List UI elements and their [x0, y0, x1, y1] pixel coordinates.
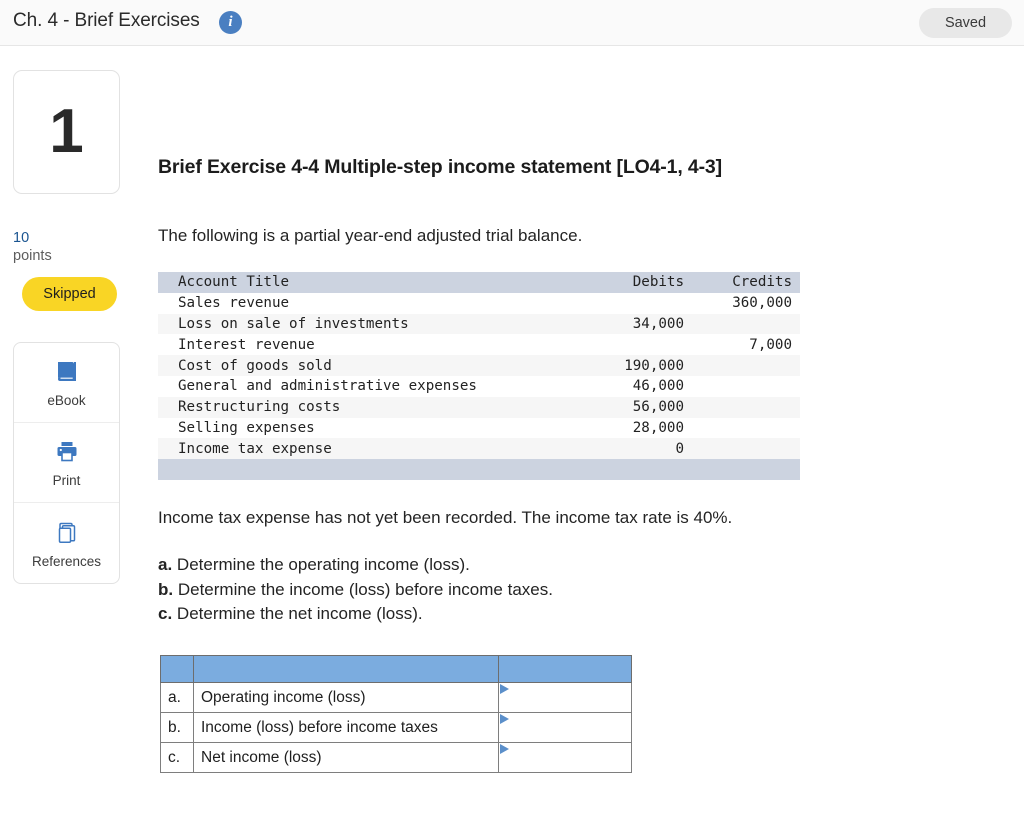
answer-row-label: Operating income (loss)	[194, 683, 499, 713]
account-debit: 28,000	[574, 418, 692, 439]
table-row: Restructuring costs 56,000	[158, 397, 800, 418]
account-debit: 46,000	[574, 376, 692, 397]
account-debit: 56,000	[574, 397, 692, 418]
points-value: 10	[13, 230, 120, 247]
account-debit: 190,000	[574, 355, 692, 376]
account-credit	[692, 355, 800, 376]
answer-row-label: Net income (loss)	[194, 743, 499, 773]
table-row: Loss on sale of investments 34,000	[158, 314, 800, 335]
requirement-text: Determine the operating income (loss).	[177, 555, 470, 574]
requirement-letter: c.	[158, 604, 172, 623]
answer-row-letter: a.	[161, 683, 194, 713]
exercise-intro: The following is a partial year-end adju…	[158, 226, 582, 246]
table-row: a. Operating income (loss)	[161, 683, 632, 713]
exercise-title: Brief Exercise 4-4 Multiple-step income …	[158, 156, 722, 179]
trial-balance-col-credits: Credits	[692, 272, 800, 293]
tool-ebook-label: eBook	[47, 393, 85, 408]
requirement-item: a. Determine the operating income (loss)…	[158, 553, 553, 578]
answer-table: a. Operating income (loss) b. Income (lo…	[160, 655, 632, 773]
answer-row-value-cell[interactable]	[499, 713, 632, 743]
account-debit: 0	[574, 438, 692, 459]
answer-input-c[interactable]	[499, 744, 631, 772]
account-title: Sales revenue	[158, 293, 574, 314]
answer-input-a[interactable]	[499, 684, 631, 712]
requirement-letter: a.	[158, 555, 172, 574]
account-title: General and administrative expenses	[158, 376, 574, 397]
tool-print-label: Print	[53, 473, 81, 488]
table-row: c. Net income (loss)	[161, 743, 632, 773]
tax-note: Income tax expense has not yet been reco…	[158, 508, 732, 528]
trial-balance-col-debits: Debits	[574, 272, 692, 293]
requirements-list: a. Determine the operating income (loss)…	[158, 553, 553, 627]
comment-marker-icon	[500, 684, 509, 694]
account-credit	[692, 314, 800, 335]
table-row: Sales revenue 360,000	[158, 293, 800, 314]
answer-input-b[interactable]	[499, 714, 631, 742]
requirement-item: b. Determine the income (loss) before in…	[158, 578, 553, 603]
page-title: Ch. 4 - Brief Exercises	[13, 10, 200, 32]
status-badge-saved: Saved	[919, 8, 1012, 38]
info-icon[interactable]: i	[219, 11, 242, 34]
answer-row-label: Income (loss) before income taxes	[194, 713, 499, 743]
tool-print[interactable]: Print	[14, 423, 119, 503]
account-credit: 360,000	[692, 293, 800, 314]
answer-row-value-cell[interactable]	[499, 683, 632, 713]
account-title: Cost of goods sold	[158, 355, 574, 376]
account-title: Selling expenses	[158, 418, 574, 439]
account-title: Income tax expense	[158, 438, 574, 459]
ebook-icon	[54, 357, 80, 387]
account-title: Loss on sale of investments	[158, 314, 574, 335]
account-credit	[692, 438, 800, 459]
table-row: Cost of goods sold 190,000	[158, 355, 800, 376]
question-number-card: 1	[13, 70, 120, 194]
tool-references-label: References	[32, 554, 101, 569]
trial-balance-footer-band	[158, 459, 800, 480]
tool-references[interactable]: References	[14, 503, 119, 583]
account-credit	[692, 397, 800, 418]
table-row: Interest revenue 7,000	[158, 334, 800, 355]
answer-row-value-cell[interactable]	[499, 743, 632, 773]
comment-marker-icon	[500, 714, 509, 724]
account-debit: 34,000	[574, 314, 692, 335]
requirement-text: Determine the net income (loss).	[177, 604, 423, 623]
references-icon	[54, 518, 80, 548]
table-row: b. Income (loss) before income taxes	[161, 713, 632, 743]
answer-header-letter	[161, 656, 194, 683]
account-credit	[692, 418, 800, 439]
requirement-letter: b.	[158, 580, 173, 599]
table-row: Selling expenses 28,000	[158, 418, 800, 439]
print-icon	[54, 437, 80, 467]
tool-group: eBook Print References	[13, 342, 120, 584]
tool-ebook[interactable]: eBook	[14, 343, 119, 423]
question-number: 1	[49, 101, 83, 163]
answer-table-header-row	[161, 656, 632, 683]
requirement-text: Determine the income (loss) before incom…	[178, 580, 553, 599]
answer-row-letter: b.	[161, 713, 194, 743]
account-debit	[574, 334, 692, 355]
top-bar: Ch. 4 - Brief Exercises i Saved	[0, 0, 1024, 46]
table-row: General and administrative expenses 46,0…	[158, 376, 800, 397]
comment-marker-icon	[500, 744, 509, 754]
left-rail: 1 10 points Skipped eBook	[13, 70, 120, 584]
account-title: Interest revenue	[158, 334, 574, 355]
answer-header-label	[194, 656, 499, 683]
account-credit	[692, 376, 800, 397]
trial-balance-col-account: Account Title	[158, 272, 574, 293]
account-credit: 7,000	[692, 334, 800, 355]
table-row: Income tax expense 0	[158, 438, 800, 459]
status-badge-skipped: Skipped	[22, 277, 117, 311]
points-label: points	[13, 247, 120, 266]
trial-balance-table: Account Title Debits Credits Sales reven…	[158, 272, 800, 480]
account-title: Restructuring costs	[158, 397, 574, 418]
answer-row-letter: c.	[161, 743, 194, 773]
requirement-item: c. Determine the net income (loss).	[158, 602, 553, 627]
trial-balance-header-row: Account Title Debits Credits	[158, 272, 800, 293]
account-debit	[574, 293, 692, 314]
answer-header-value	[499, 656, 632, 683]
